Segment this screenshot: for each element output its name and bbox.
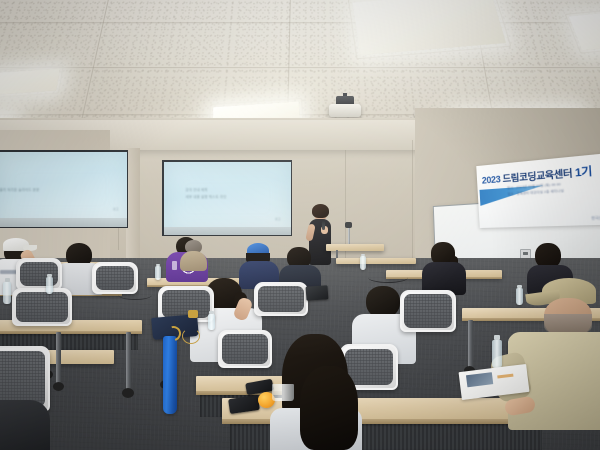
water-bottle — [46, 277, 53, 294]
screen-right-body: 세부 내용 설명 텍스트 라인 — [186, 195, 227, 200]
table-leg — [56, 332, 61, 384]
ceiling-tile-line — [0, 67, 600, 68]
water-bottle — [3, 282, 11, 304]
event-banner: 2023 드림코딩교육센터 1기 일시 : 2023년 00월 00일 (목) … — [476, 152, 600, 228]
podium-table — [326, 244, 384, 251]
booklet-cover-image — [466, 372, 493, 387]
microphone-head — [345, 222, 352, 228]
wall-seam — [345, 150, 346, 270]
banner-cohort: 1기 — [575, 166, 593, 180]
attendee-hair — [300, 366, 358, 450]
water-bottle — [360, 256, 366, 270]
screen-left-logo: 로고 — [113, 207, 119, 211]
projection-screen-left: 블러 처리된 슬라이드 본문 로고 — [0, 152, 127, 227]
projector — [327, 96, 363, 119]
chair — [16, 258, 62, 290]
water-bottle — [208, 314, 215, 330]
screen-right-logo: 로고 — [275, 217, 281, 221]
presenter-hair — [312, 204, 329, 218]
table-caster — [53, 382, 64, 391]
chair — [400, 290, 456, 332]
chair — [12, 288, 72, 326]
cable — [368, 272, 408, 283]
presenter-microphone — [322, 221, 325, 230]
screen-right-title: 강의 안내 제목 — [186, 188, 208, 193]
table-leg — [126, 332, 131, 390]
table-caster — [122, 388, 134, 398]
screen-left-text: 블러 처리된 슬라이드 본문 — [0, 188, 39, 193]
wall-seam — [412, 140, 413, 270]
booklet-accent-bar — [497, 374, 513, 379]
attendee-shoulder-foreground — [0, 400, 50, 450]
cable — [118, 290, 152, 300]
table-leg — [468, 320, 473, 368]
blue-umbrella — [163, 336, 177, 414]
bag-strap — [182, 328, 200, 344]
water-bottle — [155, 266, 161, 280]
projector-body — [329, 104, 361, 117]
classroom-photo: 블러 처리된 슬라이드 본문 로고 강의 안내 제목 세부 내용 설명 텍스트 … — [0, 0, 600, 450]
ceiling-tile-line — [0, 22, 600, 23]
attendee-torso — [180, 251, 207, 271]
projection-screen-right-frame: 강의 안내 제목 세부 내용 설명 텍스트 라인 로고 — [162, 160, 292, 236]
banner-sponsor-logo: 한국산업단지 — [591, 214, 600, 220]
water-bottle — [492, 340, 502, 368]
bag-item — [188, 310, 198, 318]
water-bottle — [516, 288, 523, 305]
wall-column — [126, 148, 140, 260]
tablet-device[interactable] — [306, 285, 329, 301]
projection-screen-right: 강의 안내 제목 세부 내용 설명 텍스트 라인 로고 — [164, 162, 291, 235]
screen-right-bottom-bar — [164, 227, 291, 235]
projection-screen-left-frame: 블러 처리된 슬라이드 본문 로고 — [0, 150, 128, 228]
table-row-far-right — [336, 258, 416, 264]
chair — [218, 330, 272, 368]
screen-left-bottom-bar — [0, 218, 127, 227]
chair — [254, 282, 308, 316]
plastic-cup — [272, 384, 294, 401]
banner-year: 2023 — [482, 174, 501, 186]
shirt-side-print — [172, 261, 177, 270]
